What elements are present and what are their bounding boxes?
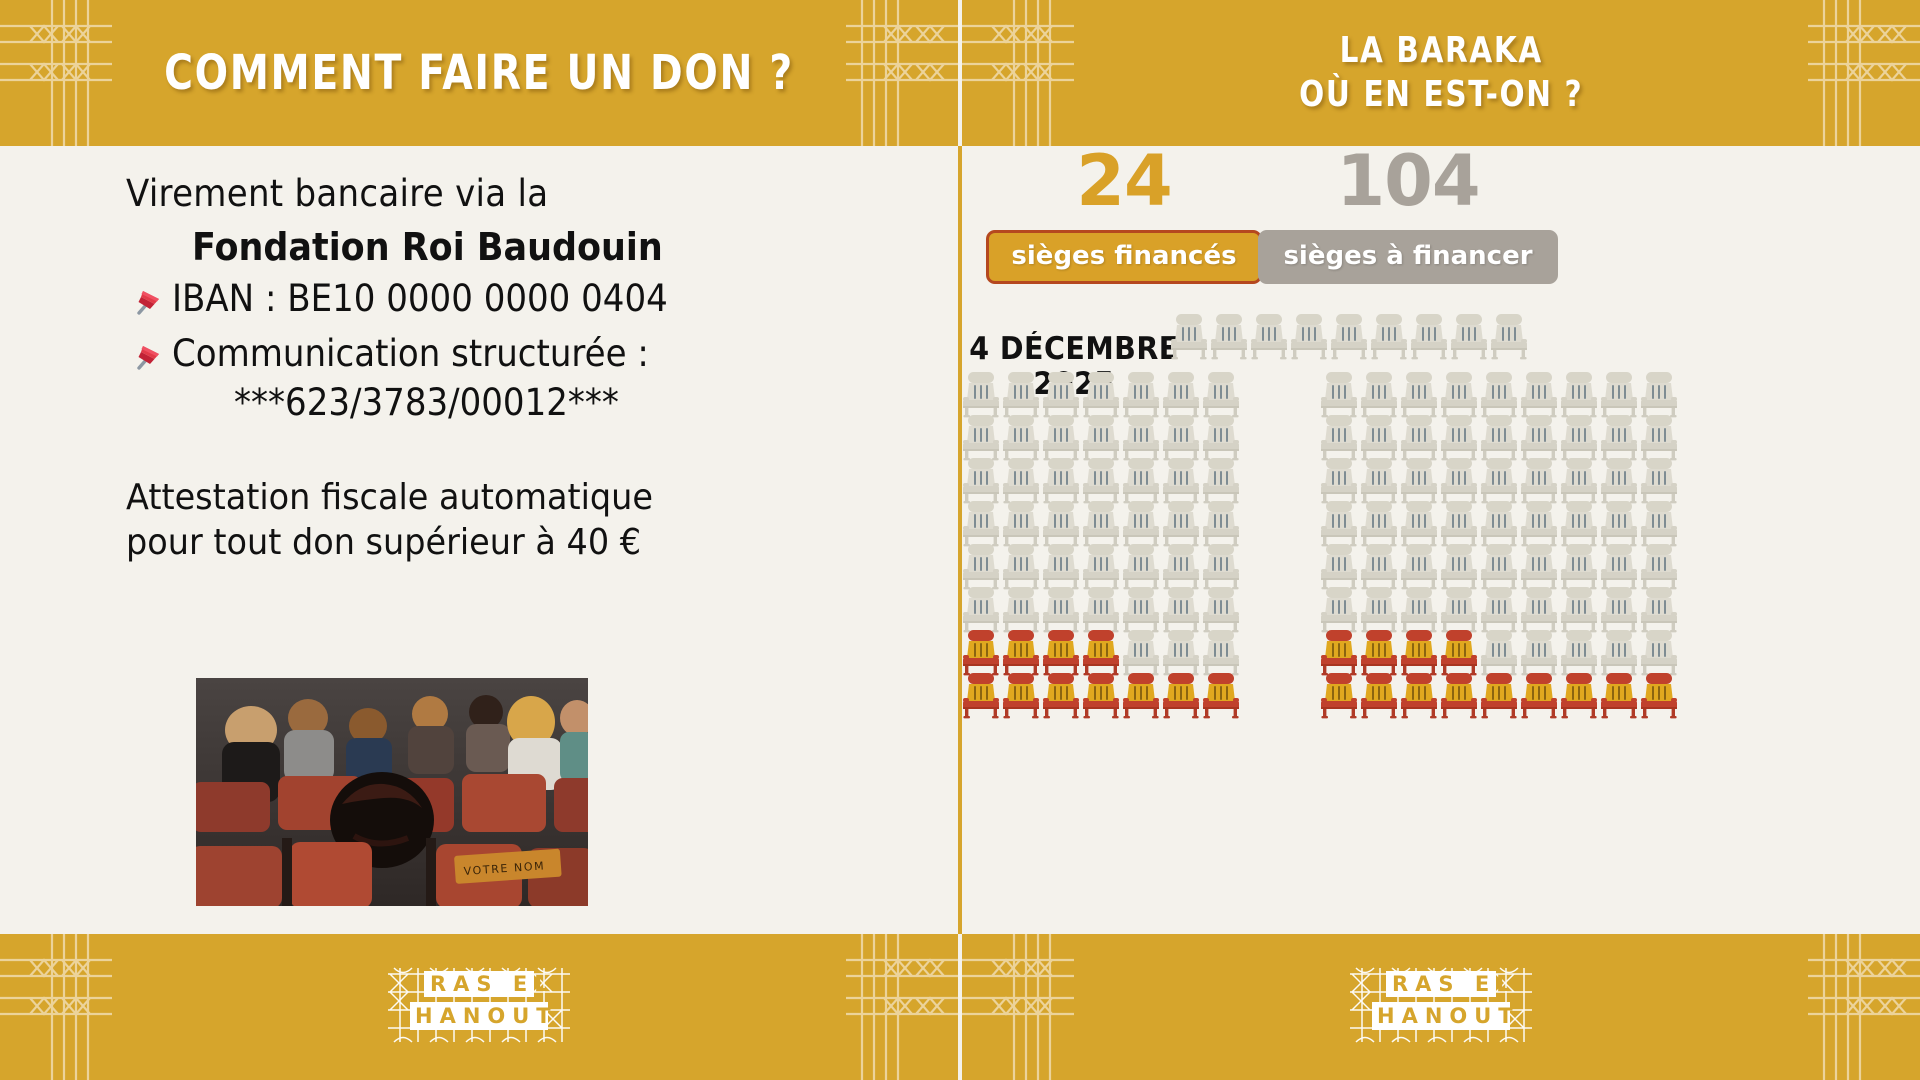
seat-available bbox=[1641, 587, 1677, 632]
page-body: Virement bancaire via la Fondation Roi B… bbox=[0, 146, 1920, 934]
page-title-right-line2: OÙ EN EST-ON ? bbox=[1299, 73, 1583, 117]
seat-financed bbox=[1123, 673, 1159, 718]
seat-available bbox=[1521, 415, 1557, 460]
seat-available bbox=[1371, 314, 1407, 359]
progress-stats: 24 sièges financés 104 sièges à financer bbox=[962, 146, 1920, 316]
seat-available bbox=[1521, 630, 1557, 675]
seat-available bbox=[1123, 458, 1159, 503]
status-badge-financed: sièges financés bbox=[986, 230, 1261, 284]
list-item-label: IBAN : BE10 0000 0000 0404 bbox=[172, 278, 668, 320]
seat-available bbox=[1481, 501, 1517, 546]
lattice-ornament-icon bbox=[0, 934, 118, 1080]
seat-available bbox=[1561, 587, 1597, 632]
seat-financed bbox=[1043, 673, 1079, 718]
seat-available bbox=[1203, 630, 1239, 675]
seat-available bbox=[1401, 501, 1437, 546]
seat-available bbox=[1361, 458, 1397, 503]
seat-available bbox=[1003, 587, 1039, 632]
seat-financed bbox=[1043, 630, 1079, 675]
seat-available bbox=[1451, 314, 1487, 359]
seat-available bbox=[963, 415, 999, 460]
brand-logo: RAS EL HANOUT bbox=[1346, 962, 1536, 1053]
seat-available bbox=[963, 458, 999, 503]
seat-available bbox=[1203, 372, 1239, 417]
seat-available bbox=[1291, 314, 1327, 359]
seat-block bbox=[963, 372, 1239, 718]
seat-financed bbox=[1163, 673, 1199, 718]
header-right-panel: LA BARAKA OÙ EN EST-ON ? bbox=[962, 0, 1920, 146]
donation-column: Virement bancaire via la Fondation Roi B… bbox=[0, 146, 958, 934]
seat-available bbox=[1361, 415, 1397, 460]
tax-note-line1: Attestation fiscale automatique bbox=[126, 476, 701, 521]
seat-available bbox=[1331, 314, 1367, 359]
lattice-ornament-icon bbox=[1802, 0, 1920, 146]
list-item-label: Communication structurée : bbox=[172, 333, 649, 375]
seat-available bbox=[1441, 458, 1477, 503]
seat-financed bbox=[1441, 673, 1477, 718]
seat-pictogram-chart bbox=[932, 314, 1920, 934]
seat-available bbox=[963, 501, 999, 546]
seat-chart-canvas bbox=[932, 314, 1920, 934]
seat-available bbox=[1401, 415, 1437, 460]
seat-available bbox=[1123, 544, 1159, 589]
status-badge-remaining: sièges à financer bbox=[1258, 230, 1557, 284]
tax-note-line2: pour tout don supérieur à 40 € bbox=[126, 521, 701, 566]
seat-available bbox=[1203, 458, 1239, 503]
lattice-ornament-icon bbox=[962, 0, 1080, 146]
seat-available bbox=[1601, 544, 1637, 589]
progress-column: 24 sièges financés 104 sièges à financer… bbox=[962, 146, 1920, 934]
seat-available bbox=[1043, 372, 1079, 417]
seat-available bbox=[1411, 314, 1447, 359]
seat-available bbox=[1641, 501, 1677, 546]
seat-available bbox=[1481, 544, 1517, 589]
page-title-left: COMMENT FAIRE UN DON ? bbox=[164, 45, 794, 101]
seat-available bbox=[1203, 544, 1239, 589]
seat-available bbox=[1083, 415, 1119, 460]
ras-el-hanout-logo-icon: RAS EL HANOUT bbox=[384, 962, 574, 1048]
seat-available bbox=[1561, 415, 1597, 460]
footer-right-panel: RAS EL HANOUT bbox=[962, 934, 1920, 1080]
seat-available bbox=[1043, 587, 1079, 632]
tax-note: Attestation fiscale automatique pour tou… bbox=[126, 476, 701, 565]
seat-available bbox=[1641, 630, 1677, 675]
seat-available bbox=[1083, 501, 1119, 546]
seat-available bbox=[1083, 372, 1119, 417]
seat-available bbox=[1203, 587, 1239, 632]
seat-available bbox=[1361, 544, 1397, 589]
seat-available bbox=[1521, 372, 1557, 417]
seat-available bbox=[1601, 630, 1637, 675]
seat-available bbox=[1003, 415, 1039, 460]
seat-available bbox=[1641, 458, 1677, 503]
seat-available bbox=[1321, 544, 1357, 589]
seat-financed bbox=[1083, 673, 1119, 718]
donation-copy: Virement bancaire via la Fondation Roi B… bbox=[126, 172, 926, 565]
seat-available bbox=[1481, 372, 1517, 417]
seat-available bbox=[1521, 458, 1557, 503]
seat-financed bbox=[1401, 673, 1437, 718]
seat-financed bbox=[1003, 673, 1039, 718]
seat-available bbox=[1601, 458, 1637, 503]
seat-available bbox=[1481, 415, 1517, 460]
lattice-ornament-icon bbox=[0, 0, 118, 146]
seat-available bbox=[1163, 544, 1199, 589]
seat-available bbox=[1361, 501, 1397, 546]
lattice-ornament-icon bbox=[962, 934, 1080, 1080]
seat-available bbox=[1441, 415, 1477, 460]
seat-financed bbox=[1321, 630, 1357, 675]
seat-available bbox=[1601, 501, 1637, 546]
ras-el-hanout-logo-icon: RAS EL HANOUT bbox=[1346, 962, 1536, 1048]
lattice-ornament-icon bbox=[840, 934, 958, 1080]
donation-organisation: Fondation Roi Baudouin bbox=[192, 225, 867, 269]
seat-available bbox=[1441, 501, 1477, 546]
seat-available bbox=[1521, 501, 1557, 546]
seat-available bbox=[1203, 501, 1239, 546]
seat-available bbox=[1601, 587, 1637, 632]
seat-available bbox=[1641, 544, 1677, 589]
stat-financed: 24 sièges financés bbox=[974, 146, 1274, 284]
pushpin-icon bbox=[130, 333, 172, 379]
seat-available bbox=[1163, 630, 1199, 675]
seat-block bbox=[1321, 372, 1677, 718]
seat-available bbox=[1043, 501, 1079, 546]
seat-available bbox=[1211, 314, 1247, 359]
seat-available bbox=[1163, 415, 1199, 460]
seat-available bbox=[1521, 587, 1557, 632]
brand-logo: RAS EL HANOUT bbox=[384, 962, 574, 1053]
seat-available bbox=[1401, 372, 1437, 417]
stat-remaining-value: 104 bbox=[1258, 146, 1558, 216]
seat-financed bbox=[1481, 673, 1517, 718]
seat-available bbox=[1521, 544, 1557, 589]
seat-available bbox=[1481, 587, 1517, 632]
stat-financed-value: 24 bbox=[974, 146, 1274, 216]
seat-available bbox=[1491, 314, 1527, 359]
footer-left-panel: RAS EL HANOUT bbox=[0, 934, 958, 1080]
seat-available bbox=[1083, 458, 1119, 503]
seat-available bbox=[1043, 415, 1079, 460]
seat-available bbox=[1601, 372, 1637, 417]
seat-available bbox=[1561, 630, 1597, 675]
list-item: IBAN : BE10 0000 0000 0404 bbox=[130, 278, 926, 324]
page-header: COMMENT FAIRE UN DON ? bbox=[0, 0, 1920, 146]
seat-available bbox=[1043, 544, 1079, 589]
seat-available bbox=[1003, 544, 1039, 589]
seat-available bbox=[1251, 314, 1287, 359]
seat-financed bbox=[1441, 630, 1477, 675]
seat-financed bbox=[1203, 673, 1239, 718]
list-item: Communication structurée : bbox=[130, 333, 926, 379]
seat-available bbox=[1361, 372, 1397, 417]
seat-available bbox=[1441, 587, 1477, 632]
structured-reference: ***623/3783/00012*** bbox=[234, 381, 871, 424]
seat-available bbox=[1123, 372, 1159, 417]
seat-available bbox=[1561, 501, 1597, 546]
header-left-panel: COMMENT FAIRE UN DON ? bbox=[0, 0, 958, 146]
seat-financed bbox=[963, 630, 999, 675]
seat-available bbox=[1003, 501, 1039, 546]
seat-available bbox=[1401, 587, 1437, 632]
seat-available bbox=[1401, 458, 1437, 503]
seat-available bbox=[1123, 587, 1159, 632]
stat-remaining: 104 sièges à financer bbox=[1258, 146, 1558, 284]
seat-financed bbox=[1321, 673, 1357, 718]
seat-financed bbox=[1361, 673, 1397, 718]
seat-available bbox=[1083, 544, 1119, 589]
seat-financed bbox=[1641, 673, 1677, 718]
donation-intro: Virement bancaire via la bbox=[126, 172, 862, 215]
seat-available bbox=[1361, 587, 1397, 632]
seat-available bbox=[1321, 372, 1357, 417]
seat-available bbox=[1163, 501, 1199, 546]
seat-available bbox=[1123, 630, 1159, 675]
audience-photo: VOTRE NOM bbox=[196, 678, 588, 906]
seat-financed bbox=[1003, 630, 1039, 675]
seat-available bbox=[1321, 415, 1357, 460]
seat-financed bbox=[963, 673, 999, 718]
lattice-ornament-icon bbox=[1802, 934, 1920, 1080]
seat-available bbox=[1043, 458, 1079, 503]
seat-available bbox=[1003, 458, 1039, 503]
seat-available bbox=[963, 372, 999, 417]
seat-available bbox=[1641, 372, 1677, 417]
seat-available bbox=[963, 544, 999, 589]
seat-block bbox=[1171, 314, 1527, 359]
seat-financed bbox=[1401, 630, 1437, 675]
lattice-ornament-icon bbox=[840, 0, 958, 146]
seat-financed bbox=[1561, 673, 1597, 718]
seat-financed bbox=[1521, 673, 1557, 718]
seat-available bbox=[1321, 458, 1357, 503]
seat-available bbox=[1641, 415, 1677, 460]
seat-available bbox=[1163, 587, 1199, 632]
seat-available bbox=[1123, 501, 1159, 546]
seat-available bbox=[1401, 544, 1437, 589]
seat-available bbox=[1481, 630, 1517, 675]
seat-available bbox=[1321, 501, 1357, 546]
seat-available bbox=[1163, 372, 1199, 417]
seat-available bbox=[1441, 372, 1477, 417]
seat-financed bbox=[1601, 673, 1637, 718]
seat-available bbox=[1561, 544, 1597, 589]
seat-available bbox=[1321, 587, 1357, 632]
seat-available bbox=[1441, 544, 1477, 589]
logo-line-2: HANOUT bbox=[1377, 1004, 1520, 1028]
logo-line-1: RAS EL bbox=[1392, 972, 1517, 996]
logo-line-2: HANOUT bbox=[415, 1004, 558, 1028]
seat-financed bbox=[1083, 630, 1119, 675]
pushpin-icon bbox=[130, 278, 172, 324]
seat-available bbox=[1171, 314, 1207, 359]
seat-available bbox=[1481, 458, 1517, 503]
page-title-right-line1: LA BARAKA bbox=[1299, 29, 1583, 73]
seat-available bbox=[1601, 415, 1637, 460]
seat-available bbox=[1163, 458, 1199, 503]
seat-available bbox=[1561, 458, 1597, 503]
page-title-right: LA BARAKA OÙ EN EST-ON ? bbox=[1299, 29, 1583, 117]
seat-available bbox=[963, 587, 999, 632]
page-footer: RAS EL HANOUT bbox=[0, 934, 1920, 1080]
seat-financed bbox=[1361, 630, 1397, 675]
seat-available bbox=[1083, 587, 1119, 632]
seat-available bbox=[1003, 372, 1039, 417]
seat-available bbox=[1561, 372, 1597, 417]
logo-line-1: RAS EL bbox=[430, 972, 555, 996]
seat-available bbox=[1203, 415, 1239, 460]
seat-available bbox=[1123, 415, 1159, 460]
